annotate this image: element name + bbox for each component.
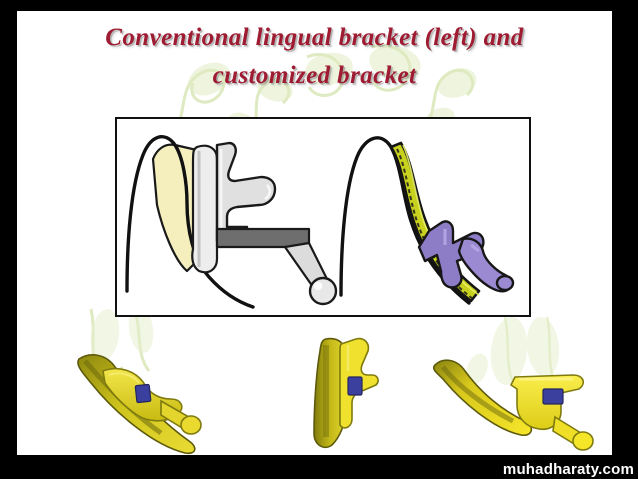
ball-hook bbox=[573, 432, 593, 450]
slot bbox=[348, 377, 362, 395]
custom-bracket-render-occlusal-view bbox=[421, 349, 607, 455]
slot bbox=[135, 384, 151, 402]
right-panel-customized bbox=[341, 138, 513, 303]
custom-bracket-render-lingual-view bbox=[57, 341, 247, 455]
left-panel-conventional bbox=[127, 137, 336, 307]
bracket-body-left bbox=[217, 143, 275, 241]
title-line-1: Conventional lingual bracket (left) and bbox=[17, 19, 612, 57]
bracket-comparison-diagram bbox=[115, 117, 531, 317]
title-line-2: customized bracket bbox=[17, 57, 612, 95]
watermark: muhadharaty.com bbox=[503, 461, 634, 478]
slide-title: Conventional lingual bracket (left) and … bbox=[17, 19, 612, 95]
ball-hook bbox=[181, 416, 201, 434]
ball-hook bbox=[310, 278, 336, 304]
slot bbox=[543, 389, 563, 404]
custom-bracket-render-profile-view bbox=[298, 333, 384, 451]
customized-base bbox=[391, 143, 479, 301]
slide-frame: Conventional lingual bracket (left) and … bbox=[0, 0, 638, 479]
slide-canvas: Conventional lingual bracket (left) and … bbox=[17, 11, 612, 455]
bracket-base-plate bbox=[192, 146, 217, 273]
